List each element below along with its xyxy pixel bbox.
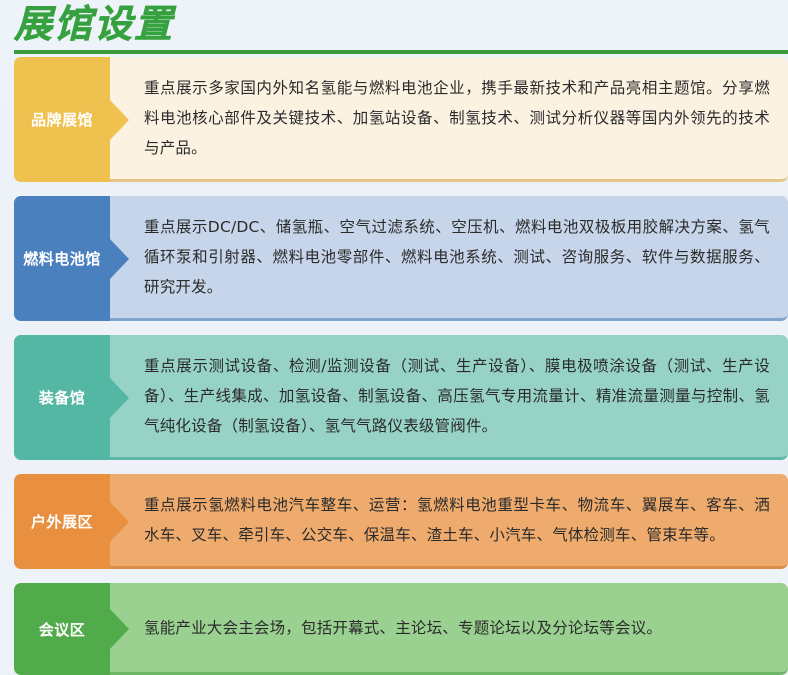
zone-description-text: 重点展示DC/DC、储氢瓶、空气过滤系统、空压机、燃料电池双极板用胶解决方案、氢… (144, 212, 770, 302)
chevron-right-icon (109, 608, 129, 650)
zone-description-text: 重点展示测试设备、检测/监测设备（测试、生产设备）、膜电极喷涂设备（测试、生产设… (144, 351, 770, 441)
zone-description-conference: 氢能产业大会主会场，包括开幕式、主论坛、专题论坛以及分论坛等会议。 (110, 583, 788, 675)
zone-description-equipment: 重点展示测试设备、检测/监测设备（测试、生产设备）、膜电极喷涂设备（测试、生产设… (110, 335, 788, 460)
zone-label-text: 燃料电池馆 (23, 248, 101, 269)
zone-description-text: 重点展示氢燃料电池汽车整车、运营：氢燃料电池重型卡车、物流车、翼展车、客车、洒水… (144, 490, 770, 550)
chevron-right-icon (109, 501, 129, 543)
zone-label-text: 会议区 (39, 619, 86, 640)
list-item: 燃料电池馆 重点展示DC/DC、储氢瓶、空气过滤系统、空压机、燃料电池双极板用胶… (14, 196, 788, 321)
zone-description-outdoor: 重点展示氢燃料电池汽车整车、运营：氢燃料电池重型卡车、物流车、翼展车、客车、洒水… (110, 474, 788, 569)
list-item: 会议区 氢能产业大会主会场，包括开幕式、主论坛、专题论坛以及分论坛等会议。 (14, 583, 788, 675)
page-header: 展馆设置 (0, 0, 788, 57)
list-item: 品牌展馆 重点展示多家国内外知名氢能与燃料电池企业，携手最新技术和产品亮相主题馆… (14, 57, 788, 182)
list-item: 装备馆 重点展示测试设备、检测/监测设备（测试、生产设备）、膜电极喷涂设备（测试… (14, 335, 788, 460)
zone-description-text: 氢能产业大会主会场，包括开幕式、主论坛、专题论坛以及分论坛等会议。 (144, 614, 662, 642)
zone-label-text: 品牌展馆 (31, 109, 93, 130)
zone-description-fuel-cell: 重点展示DC/DC、储氢瓶、空气过滤系统、空压机、燃料电池双极板用胶解决方案、氢… (110, 196, 788, 321)
zone-label-text: 户外展区 (31, 511, 93, 532)
zone-label-text: 装备馆 (39, 387, 86, 408)
chevron-right-icon (109, 377, 129, 419)
list-item: 户外展区 重点展示氢燃料电池汽车整车、运营：氢燃料电池重型卡车、物流车、翼展车、… (14, 474, 788, 569)
zone-description-text: 重点展示多家国内外知名氢能与燃料电池企业，携手最新技术和产品亮相主题馆。分享燃料… (144, 73, 770, 163)
zone-label-conference[interactable]: 会议区 (14, 583, 110, 675)
exhibition-zone-list: 品牌展馆 重点展示多家国内外知名氢能与燃料电池企业，携手最新技术和产品亮相主题馆… (0, 57, 788, 675)
title-divider (14, 50, 788, 54)
zone-description-brand: 重点展示多家国内外知名氢能与燃料电池企业，携手最新技术和产品亮相主题馆。分享燃料… (110, 57, 788, 182)
zone-label-brand[interactable]: 品牌展馆 (14, 57, 110, 182)
zone-label-fuel-cell[interactable]: 燃料电池馆 (14, 196, 110, 321)
zone-label-equipment[interactable]: 装备馆 (14, 335, 110, 460)
zone-label-outdoor[interactable]: 户外展区 (14, 474, 110, 569)
chevron-right-icon (109, 238, 129, 280)
page-title: 展馆设置 (14, 2, 174, 46)
chevron-right-icon (109, 99, 129, 141)
